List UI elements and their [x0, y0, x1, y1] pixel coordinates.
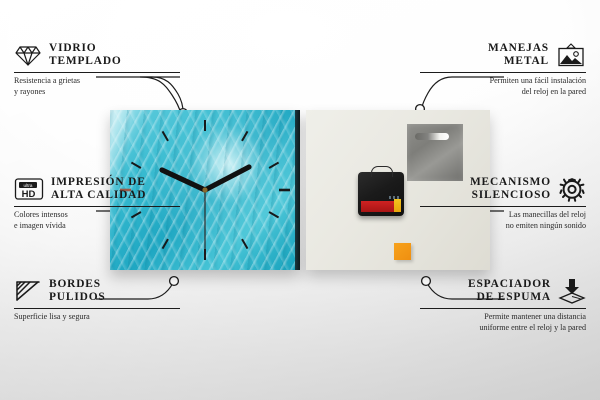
ultra-hd-icon: ultra HD: [14, 177, 44, 201]
keyhole-slot: [415, 133, 449, 140]
picture-frame-icon: [556, 43, 586, 68]
feature-edges-subtitle: Superficie lisa y segura: [14, 312, 180, 322]
feature-mechanism-title: MECANISMO SILENCIOSO: [470, 176, 551, 203]
hanger-loop-icon: [371, 166, 393, 177]
feature-foam-subtitle: Permite mantener una distancia uniforme …: [420, 312, 586, 332]
infographic-canvas: VIDRIO TEMPLADO Resistencia a grietas y …: [0, 0, 600, 400]
feature-foam-title: ESPACIADOR DE ESPUMA: [468, 278, 551, 305]
feature-print-subtitle: Colores intensos e imagen vívida: [14, 210, 180, 230]
feature-foam: ESPACIADOR DE ESPUMA Permite mantener un…: [420, 278, 586, 333]
metal-hanger-plate: [407, 124, 463, 181]
feature-foam-header: ESPACIADOR DE ESPUMA: [420, 278, 586, 305]
polished-edges-icon: [14, 279, 42, 303]
feature-edges: BORDES PULIDOS Superficie lisa y segura: [14, 278, 180, 323]
feature-hooks-subtitle: Permiten una fácil instalación del reloj…: [420, 76, 586, 96]
feature-glass-title: VIDRIO TEMPLADO: [49, 42, 122, 69]
feature-print-rule: [14, 206, 180, 207]
foam-spacer-pad: [394, 243, 411, 260]
diamond-icon: [14, 43, 42, 67]
feature-print-header: ultra HD IMPRESIÓN DE ALTA CALIDAD: [14, 176, 180, 203]
feature-glass-rule: [14, 72, 180, 73]
glass-edge: [295, 110, 300, 270]
feature-glass: VIDRIO TEMPLADO Resistencia a grietas y …: [14, 42, 180, 97]
svg-text:HD: HD: [22, 189, 36, 200]
feature-edges-title: BORDES PULIDOS: [49, 278, 106, 305]
feature-mechanism-header: MECANISMO SILENCIOSO: [420, 176, 586, 203]
feature-mechanism: MECANISMO SILENCIOSO Las manecillas del …: [420, 176, 586, 231]
gear-icon: [558, 176, 586, 202]
feature-glass-header: VIDRIO TEMPLADO: [14, 42, 180, 69]
feature-hooks-header: MANEJAS METAL: [420, 42, 586, 69]
feature-print-title: IMPRESIÓN DE ALTA CALIDAD: [51, 176, 146, 203]
feature-print: ultra HD IMPRESIÓN DE ALTA CALIDAD Color…: [14, 176, 180, 231]
battery-label: [361, 201, 401, 212]
feature-mechanism-rule: [420, 206, 586, 207]
feature-hooks-rule: [420, 72, 586, 73]
svg-text:ultra: ultra: [24, 183, 33, 188]
feature-glass-subtitle: Resistencia a grietas y rayones: [14, 76, 180, 96]
feature-hooks: MANEJAS METAL Permiten una fácil instala…: [420, 42, 586, 97]
feature-edges-rule: [14, 308, 180, 309]
feature-mechanism-subtitle: Las manecillas del reloj no emiten ningú…: [420, 210, 586, 230]
feature-edges-header: BORDES PULIDOS: [14, 278, 180, 305]
clock-movement-box: [358, 172, 404, 216]
arrow-down-plate-icon: [558, 278, 586, 304]
feature-foam-rule: [420, 308, 586, 309]
feature-hooks-title: MANEJAS METAL: [488, 42, 549, 69]
